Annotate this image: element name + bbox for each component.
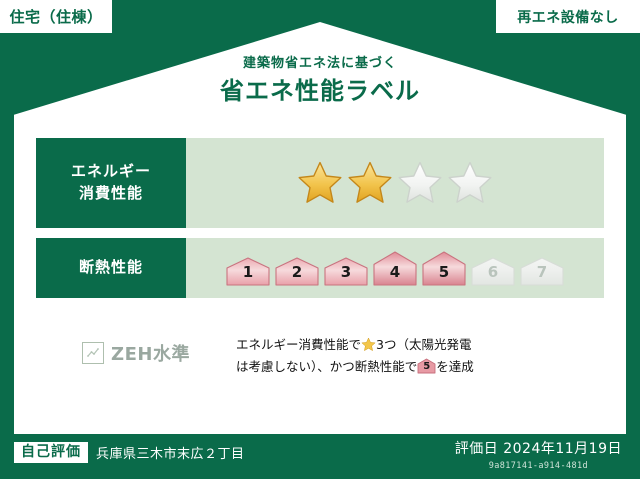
zeh-check-icon [82,342,104,364]
grade-value: 5 [421,263,467,281]
footer-right-group: 評価日 2024年11月19日 9a817141-a914-481d [455,438,622,471]
evaluation-id: 9a817141-a914-481d [455,461,622,471]
building-type-tag: 住宅（住棟） [0,0,112,33]
zeh-section: ZEH水準 エネルギー消費性能で 3つ（太陽光発電 は考慮しない）、かつ断熱性能… [36,334,604,390]
star-empty-icon [446,159,494,207]
insulation-performance-label-line1: 断熱性能 [79,257,143,279]
zeh-label: ZEH水準 [111,340,190,366]
star-empty-icon [396,159,444,207]
title-main: 省エネ性能ラベル [0,77,640,106]
star-filled-icon [296,159,344,207]
inline-grade-value: 5 [417,359,436,374]
label-footer: 自己評価 兵庫県三木市末広２丁目 評価日 2024年11月19日 9a81714… [0,434,640,479]
title-subtitle: 建築物省エネ法に基づく [0,56,640,72]
property-address: 兵庫県三木市末広２丁目 [96,443,245,462]
star-rating [296,159,494,207]
insulation-grade-scale: 1234567 [225,250,565,286]
grade-value: 7 [519,263,565,281]
energy-performance-row-label: エネルギー 消費性能 [36,138,186,228]
inline-star-icon [361,337,376,352]
grade-value: 3 [323,263,369,281]
insulation-grade-7: 7 [519,256,565,286]
energy-performance-row-value [186,138,604,228]
inline-grade-badge: 5 [417,358,436,374]
insulation-grade-1: 1 [225,256,271,286]
insulation-grade-2: 2 [274,256,320,286]
grade-value: 1 [225,263,271,281]
insulation-performance-row-label: 断熱性能 [36,238,186,298]
renewable-energy-tag-label: 再エネ設備なし [517,7,619,27]
energy-performance-label-line1: エネルギー [71,161,151,183]
zeh-desc-part3: は考慮しない）、かつ断熱性能で [236,359,417,374]
zeh-desc-part1: エネルギー消費性能で [236,337,361,352]
star-filled-icon [346,159,394,207]
energy-performance-label-line2: 消費性能 [79,183,143,205]
zeh-badge: ZEH水準 [36,334,236,366]
zeh-desc-part2: 3つ（太陽光発電 [376,337,471,352]
energy-performance-row: エネルギー 消費性能 [36,138,604,228]
insulation-grade-6: 6 [470,256,516,286]
label-title: 建築物省エネ法に基づく 省エネ性能ラベル [0,56,640,105]
insulation-grade-5: 5 [421,250,467,286]
insulation-grade-3: 3 [323,256,369,286]
zeh-desc-part4: を達成 [436,359,474,374]
insulation-performance-row: 断熱性能 1234567 [36,238,604,298]
evaluation-date: 評価日 2024年11月19日 [455,438,622,458]
grade-value: 4 [372,263,418,281]
self-evaluation-badge: 自己評価 [14,442,88,463]
insulation-performance-row-value: 1234567 [186,238,604,298]
grade-value: 6 [470,263,516,281]
renewable-energy-tag: 再エネ設備なし [496,0,640,33]
zeh-description: エネルギー消費性能で 3つ（太陽光発電 は考慮しない）、かつ断熱性能で 5 を達… [236,334,604,378]
energy-performance-label: 住宅（住棟） 再エネ設備なし 建築物省エネ法に基づく 省エネ性能ラベル エネルギ… [0,0,640,479]
insulation-grade-4: 4 [372,250,418,286]
grade-value: 2 [274,263,320,281]
building-type-tag-label: 住宅（住棟） [9,6,102,27]
footer-left-group: 自己評価 兵庫県三木市末広２丁目 [14,442,245,463]
